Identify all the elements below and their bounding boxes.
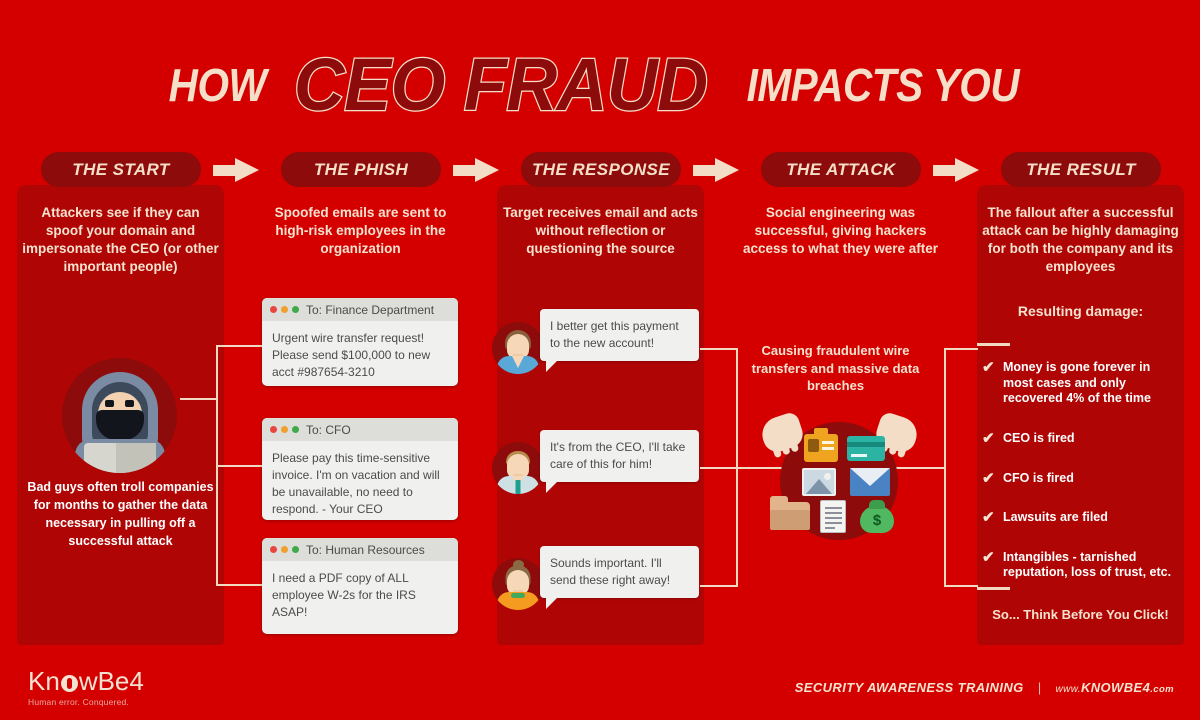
connector-line — [944, 585, 978, 587]
title-part-2: CEO FRAUD — [294, 42, 708, 127]
email-recipient: To: CFO — [306, 423, 351, 437]
window-dots-icon — [270, 306, 299, 313]
step-blurb-start: Attackers see if they can spoof your dom… — [22, 204, 219, 276]
connector-line — [944, 348, 978, 350]
start-caption: Bad guys often troll companies for month… — [27, 478, 214, 551]
avatar — [492, 442, 544, 494]
email-body: Please pay this time-sensitive invoice. … — [262, 441, 458, 520]
connector-line — [216, 584, 262, 586]
arrow-right-icon — [693, 158, 739, 182]
logo-wordmark: KnwBe4 — [28, 668, 144, 694]
email-recipient: To: Finance Department — [306, 303, 434, 317]
email-body: Urgent wire transfer request! Please sen… — [262, 321, 458, 386]
attack-caption: Causing fraudulent wire transfers and ma… — [742, 342, 929, 395]
footer-url-domain: KNOWBE4 — [1081, 680, 1150, 695]
email-body: I need a PDF copy of ALL employee W-2s f… — [262, 561, 458, 633]
check-icon: ✔ — [982, 359, 995, 378]
page-title: HOW CEO FRAUD IMPACTS YOU — [0, 42, 1200, 127]
step-blurb-response: Target receives email and acts without r… — [502, 204, 699, 258]
window-dots-icon — [270, 546, 299, 553]
email-recipient: To: Human Resources — [306, 543, 425, 557]
result-closing: So... Think Before You Click! — [982, 607, 1179, 622]
check-icon: ✔ — [982, 509, 995, 528]
footer-right: SECURITY AWARENESS TRAINING | www.KNOWBE… — [795, 680, 1174, 695]
divider — [977, 587, 1010, 590]
avatar — [492, 558, 544, 610]
footer-url-www: www. — [1055, 684, 1081, 695]
speech-bubble: It's from the CEO, I'll take care of thi… — [540, 430, 699, 482]
list-item-label: CFO is fired — [1003, 471, 1074, 485]
check-icon: ✔ — [982, 470, 995, 489]
email-titlebar: To: Finance Department — [262, 298, 458, 321]
list-item-label: CEO is fired — [1003, 431, 1075, 445]
connector-line — [700, 467, 738, 469]
arrow-right-icon — [933, 158, 979, 182]
email-titlebar: To: Human Resources — [262, 538, 458, 561]
list-item-label: Lawsuits are filed — [1003, 510, 1108, 524]
list-item: ✔ Intangibles - tarnished reputation, lo… — [982, 550, 1182, 581]
knowbe4-logo: KnwBe4 Human error. Conquered. — [28, 668, 144, 707]
title-part-1: HOW — [169, 58, 267, 112]
logo-tagline: Human error. Conquered. — [28, 697, 144, 707]
envelope-icon — [850, 468, 890, 496]
email-card[interactable]: To: Human Resources I need a PDF copy of… — [262, 538, 458, 634]
folder-icon — [770, 502, 810, 530]
speech-bubble: I better get this payment to the new acc… — [540, 309, 699, 361]
list-item: ✔ Lawsuits are filed — [982, 510, 1182, 526]
step-pill-result: THE RESULT — [1001, 152, 1161, 187]
step-pill-response: THE RESPONSE — [521, 152, 681, 187]
list-item: ✔ CFO is fired — [982, 471, 1182, 487]
credit-card-icon — [847, 436, 885, 461]
connector-line — [700, 348, 738, 350]
stolen-data-illustration: $ — [762, 410, 917, 540]
result-list: ✔ Money is gone forever in most cases an… — [982, 360, 1182, 595]
money-bag-icon: $ — [860, 500, 894, 533]
step-pill-attack: THE ATTACK — [761, 152, 921, 187]
divider — [977, 343, 1010, 346]
list-item: ✔ CEO is fired — [982, 431, 1182, 447]
footer-separator: | — [1038, 680, 1042, 695]
logo-pre: Kn — [28, 666, 60, 696]
arrow-right-icon — [213, 158, 259, 182]
check-icon: ✔ — [982, 430, 995, 449]
photo-icon — [802, 468, 836, 496]
id-badge-icon — [804, 434, 838, 462]
email-card[interactable]: To: CFO Please pay this time-sensitive i… — [262, 418, 458, 520]
list-item-label: Money is gone forever in most cases and … — [1003, 360, 1151, 405]
footer-training-label: SECURITY AWARENESS TRAINING — [795, 680, 1024, 695]
list-item-label: Intangibles - tarnished reputation, loss… — [1003, 550, 1171, 580]
step-blurb-attack: Social engineering was successful, givin… — [742, 204, 939, 258]
connector-line — [944, 348, 946, 587]
window-dots-icon — [270, 426, 299, 433]
connector-line — [700, 585, 738, 587]
hacker-icon — [62, 358, 177, 473]
connector-line — [216, 345, 262, 347]
logo-o-icon — [61, 675, 78, 692]
step-pill-start: THE START — [41, 152, 201, 187]
infographic-canvas: HOW CEO FRAUD IMPACTS YOU THE START THE … — [0, 0, 1200, 720]
email-card[interactable]: To: Finance Department Urgent wire trans… — [262, 298, 458, 386]
title-part-3: IMPACTS YOU — [747, 58, 1020, 112]
result-heading: Resulting damage: — [982, 303, 1179, 319]
footer-url-tld: .com — [1150, 684, 1174, 695]
step-pill-phish: THE PHISH — [281, 152, 441, 187]
step-blurb-result: The fallout after a successful attack ca… — [982, 204, 1179, 276]
connector-line — [180, 398, 218, 400]
step-blurb-phish: Spoofed emails are sent to high-risk emp… — [262, 204, 459, 258]
connector-line — [216, 465, 262, 467]
arrow-right-icon — [453, 158, 499, 182]
logo-post: wBe4 — [79, 666, 144, 696]
check-icon: ✔ — [982, 549, 995, 568]
speech-bubble: Sounds important. I'll send these right … — [540, 546, 699, 598]
email-titlebar: To: CFO — [262, 418, 458, 441]
document-icon — [820, 500, 846, 533]
list-item: ✔ Money is gone forever in most cases an… — [982, 360, 1182, 407]
avatar — [492, 322, 544, 374]
